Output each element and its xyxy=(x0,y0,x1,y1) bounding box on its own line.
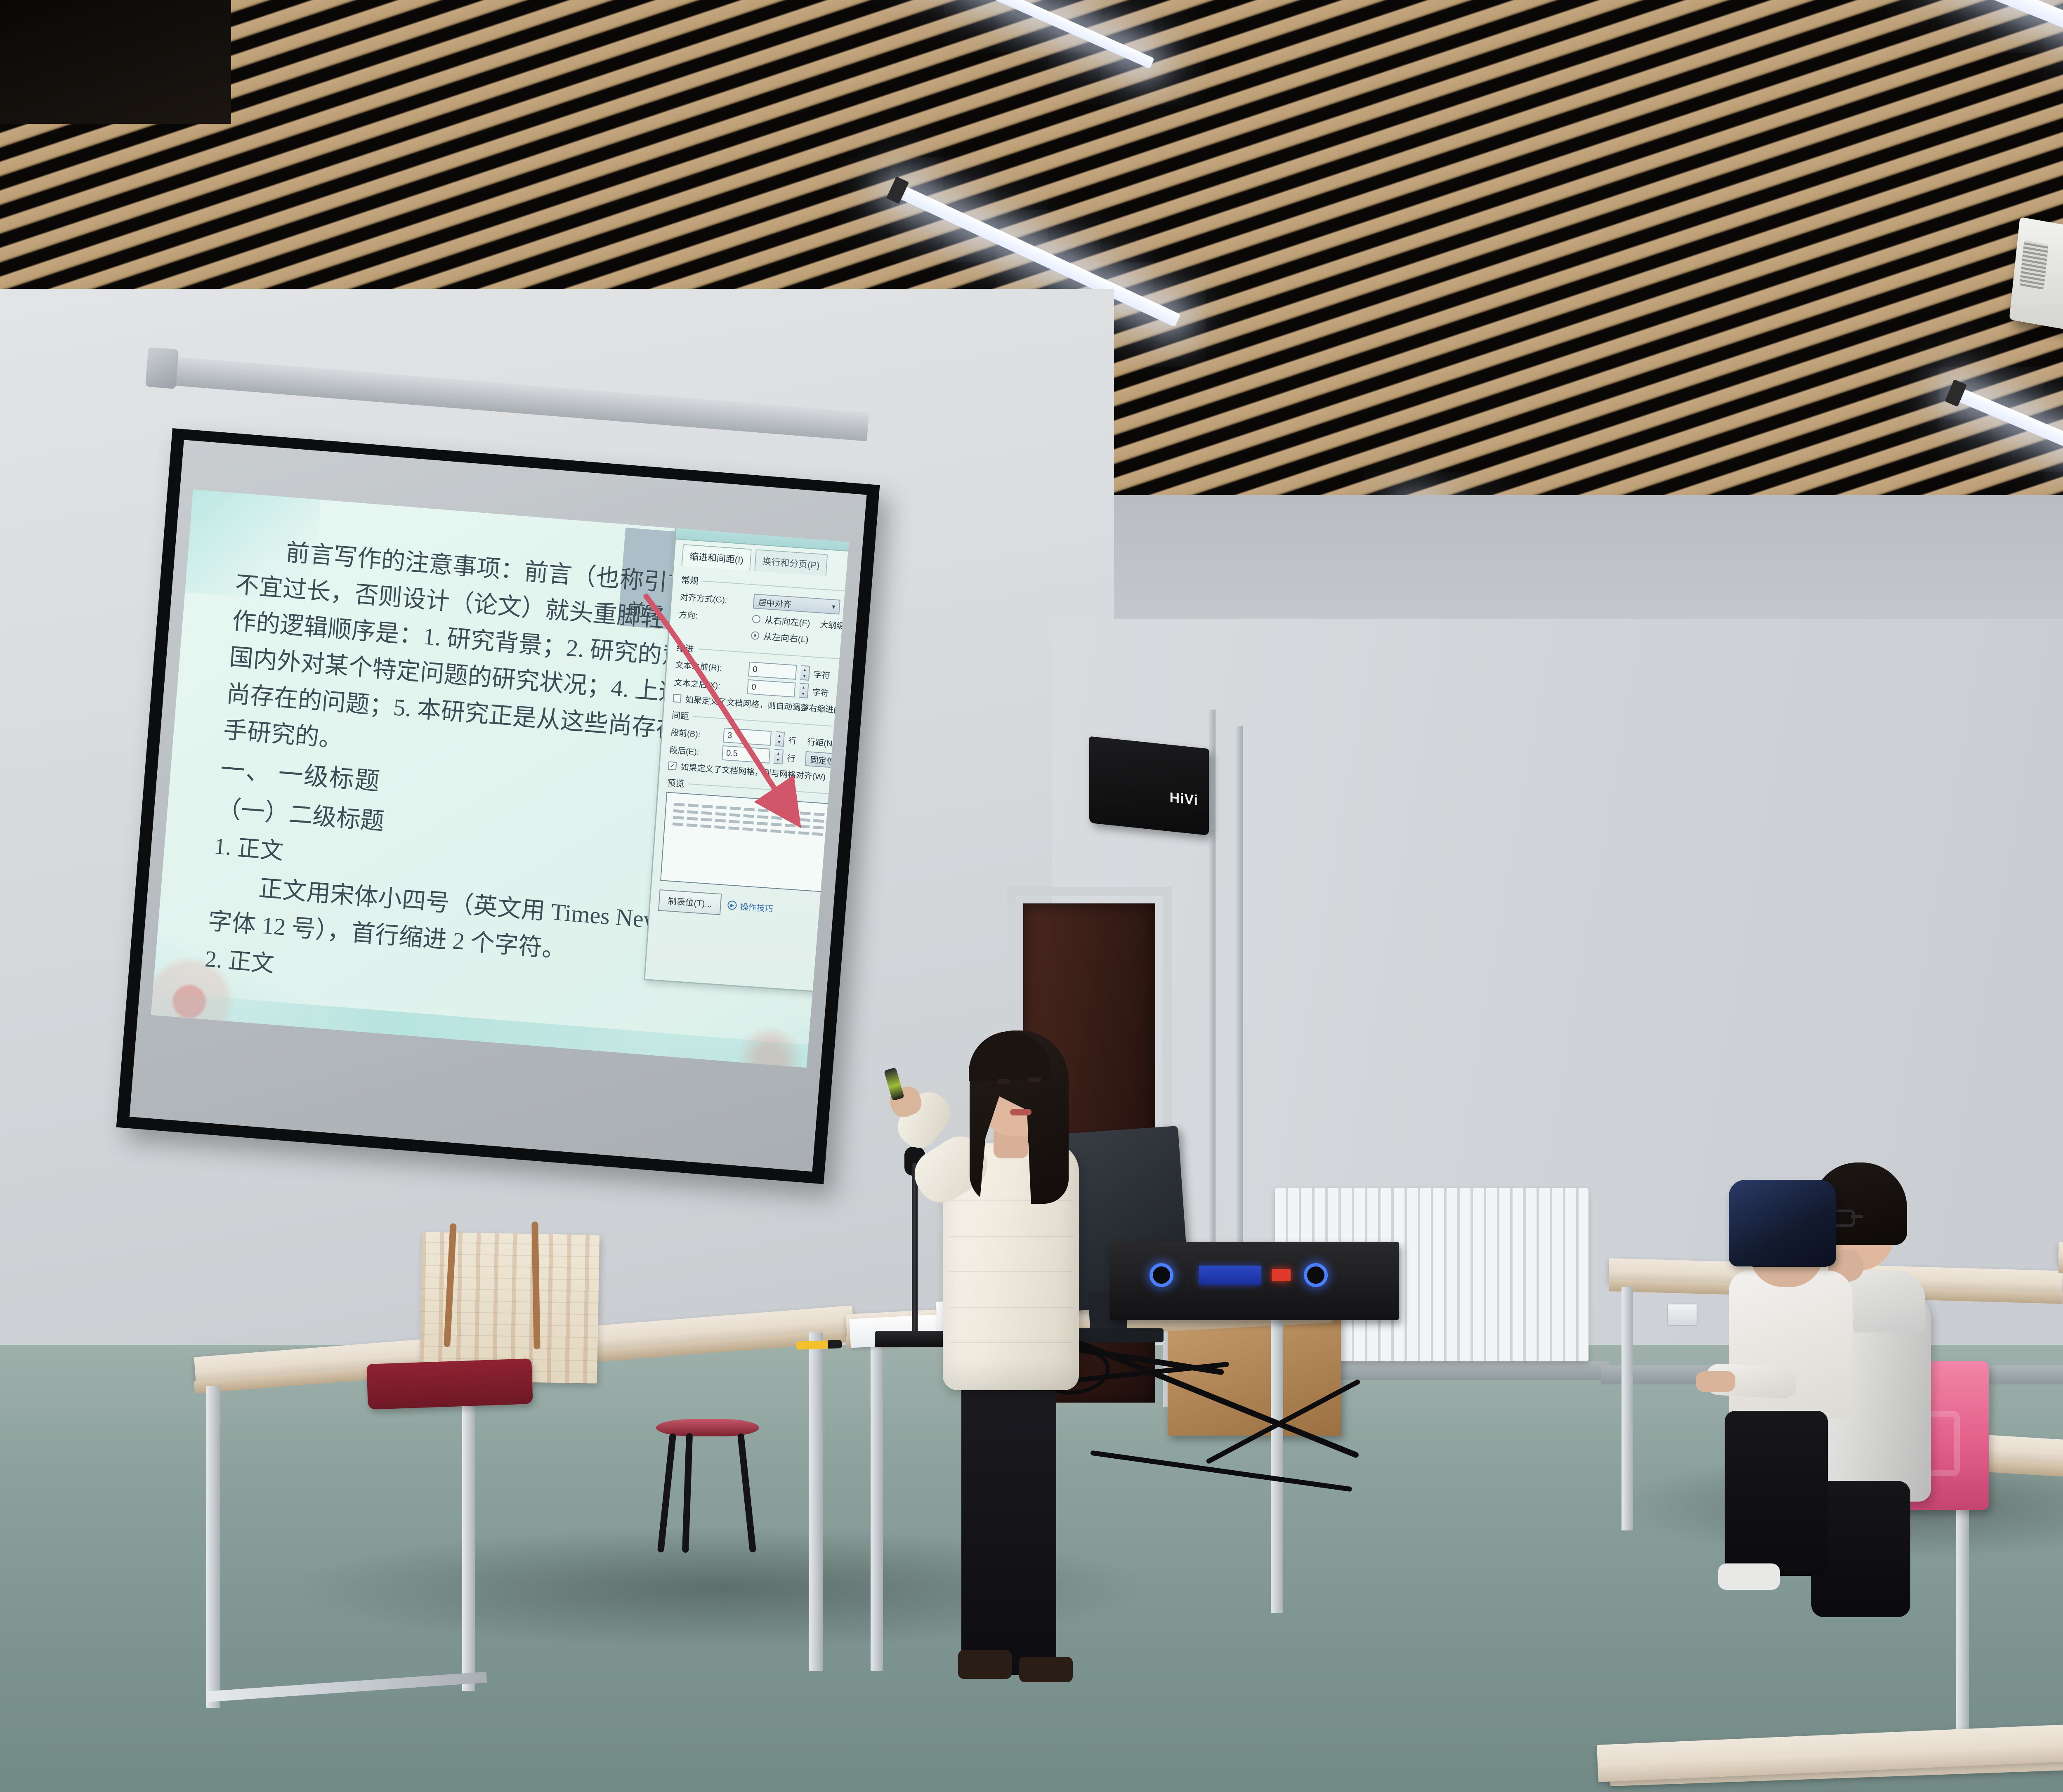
ceiling-dark-corner xyxy=(0,0,231,124)
indent-after-unit: 字符 xyxy=(812,685,829,698)
indent-before-unit: 字符 xyxy=(813,667,831,681)
radio-ltr[interactable] xyxy=(751,631,760,640)
direction-label: 方向: xyxy=(678,608,748,625)
space-after-stepper[interactable]: ▲▼ xyxy=(774,749,784,764)
tab-stops-button[interactable]: 制表位(T)... xyxy=(658,889,722,915)
av-desk-leg-1 xyxy=(871,1341,883,1671)
screen-surface: 前言 前言写作的注意事项：前言（也称引言、序等）不宜过长，否则设计（论文）就头重… xyxy=(130,440,867,1172)
student2-hand xyxy=(1696,1371,1735,1392)
checkbox-align-to-grid[interactable]: ✓ xyxy=(668,761,677,770)
stool-leg xyxy=(737,1433,756,1553)
tips-label: 操作技巧 xyxy=(740,900,774,914)
instructor-eye-left xyxy=(997,1079,1011,1084)
space-after-unit: 行 xyxy=(787,751,796,764)
student2-top xyxy=(1729,1271,1853,1419)
space-after-input[interactable]: 0.5 xyxy=(722,745,770,764)
special-format-value: (无) xyxy=(842,687,849,700)
group-preview-label: 预览 xyxy=(667,776,685,790)
operation-tips-link[interactable]: ▶ 操作技巧 xyxy=(727,899,774,914)
linespacing-select[interactable]: 固定值 ▼ xyxy=(805,751,849,770)
amp-indicator-light xyxy=(1272,1269,1291,1281)
backpack[interactable] xyxy=(1729,1180,1836,1266)
stool-leg xyxy=(682,1433,693,1553)
wall-outlet xyxy=(1667,1304,1697,1326)
radio-rtl[interactable] xyxy=(752,615,760,623)
space-before-input[interactable]: 3 xyxy=(723,728,772,746)
alignment-value: 居中对齐 xyxy=(758,596,792,610)
space-before-label: 段前(B): xyxy=(670,725,720,740)
instructor-shoe-left xyxy=(958,1650,1012,1679)
indent-after-stepper[interactable]: ▲▼ xyxy=(799,683,809,698)
desk-leg-1 xyxy=(206,1386,220,1708)
play-circle-icon: ▶ xyxy=(727,901,737,910)
projection-screen: 前言 前言写作的注意事项：前言（也称引言、序等）不宜过长，否则设计（论文）就头重… xyxy=(116,428,880,1184)
student-desk-mid-leg-1 xyxy=(1622,1287,1633,1530)
amp-display xyxy=(1199,1266,1261,1285)
student2-legs xyxy=(1725,1411,1828,1576)
alignment-label: 对齐方式(G): xyxy=(680,590,750,607)
linespacing-label: 行距(N): xyxy=(807,735,849,750)
student-white-sleeve xyxy=(1704,1106,1877,1559)
alignment-select[interactable]: 居中对齐 ▼ xyxy=(753,594,840,615)
projected-slide: 前言 前言写作的注意事项：前言（也称引言、序等）不宜过长，否则设计（论文）就头重… xyxy=(151,490,849,1068)
special-format-select[interactable]: (无) ▼ xyxy=(837,686,849,704)
group-spacing-label: 间距 xyxy=(671,709,689,722)
group-preview: 预览 xyxy=(660,776,849,901)
group-indent-label: 缩进 xyxy=(676,641,694,655)
instructor-legs xyxy=(961,1378,1056,1675)
instructor-mouth xyxy=(1010,1109,1031,1115)
dialog-body: 常规 对齐方式(G): 居中对齐 ▼ 方向 xyxy=(652,566,849,906)
instructor xyxy=(899,1007,1164,1683)
indent-before-input[interactable]: 0 xyxy=(748,662,797,680)
outline-label: 大纲级别(O): xyxy=(819,618,849,633)
student2-shoe xyxy=(1718,1563,1780,1590)
indent-after-input[interactable]: 0 xyxy=(747,679,795,698)
instructor-shoe-right xyxy=(1019,1657,1073,1682)
space-after-label: 段后(E): xyxy=(669,743,718,758)
checkbox-auto-right-indent[interactable] xyxy=(673,694,681,703)
paragraph-preview xyxy=(660,792,849,901)
group-general-label: 常规 xyxy=(681,573,699,587)
chevron-down-icon: ▼ xyxy=(848,758,849,765)
wall-speaker: HiVi xyxy=(1089,736,1209,835)
preview-line xyxy=(673,823,849,845)
indent-before-label: 文本之前(R): xyxy=(675,658,745,675)
black-stool[interactable] xyxy=(652,1419,772,1555)
tote-handle-right xyxy=(531,1221,540,1349)
desk-leg-2 xyxy=(462,1361,475,1691)
indent-after-label: 文本之后(X): xyxy=(674,676,744,693)
chevron-down-icon: ▼ xyxy=(831,603,837,610)
speaker-brand-label: HiVi xyxy=(1169,790,1198,809)
direction-spacer xyxy=(678,630,747,635)
tote-handle-left xyxy=(444,1223,457,1347)
direction-ltr-label: 从左向右(L) xyxy=(763,630,809,646)
special-format-label: 特殊格式(S): xyxy=(838,670,849,685)
classroom-scene: 前言 前言写作的注意事项：前言（也称引言、序等）不宜过长，否则设计（论文）就头重… xyxy=(0,0,2063,1792)
stool-leg xyxy=(657,1433,676,1553)
direction-rtl-label: 从右向左(F) xyxy=(764,613,811,629)
word-paragraph-dialog[interactable]: 缩进和间距(I) 换行和分页(P) 常规 对齐方式(G): xyxy=(644,519,849,1002)
av-desk-leg-2 xyxy=(1271,1316,1283,1613)
desk-leg-3 xyxy=(809,1332,823,1671)
yellow-marker[interactable] xyxy=(796,1340,842,1350)
red-clutch-bag[interactable] xyxy=(366,1358,533,1410)
space-before-stepper[interactable]: ▲▼ xyxy=(775,731,785,747)
linespacing-value: 固定值 xyxy=(810,753,836,766)
space-before-unit: 行 xyxy=(788,733,797,746)
instructor-jacket-quilting xyxy=(949,1200,1073,1378)
instructor-eye-right xyxy=(1027,1078,1041,1082)
projector-vent xyxy=(2019,240,2049,290)
amp-knob-2[interactable] xyxy=(1304,1263,1328,1287)
indent-before-stepper[interactable]: ▲▼ xyxy=(800,665,810,681)
